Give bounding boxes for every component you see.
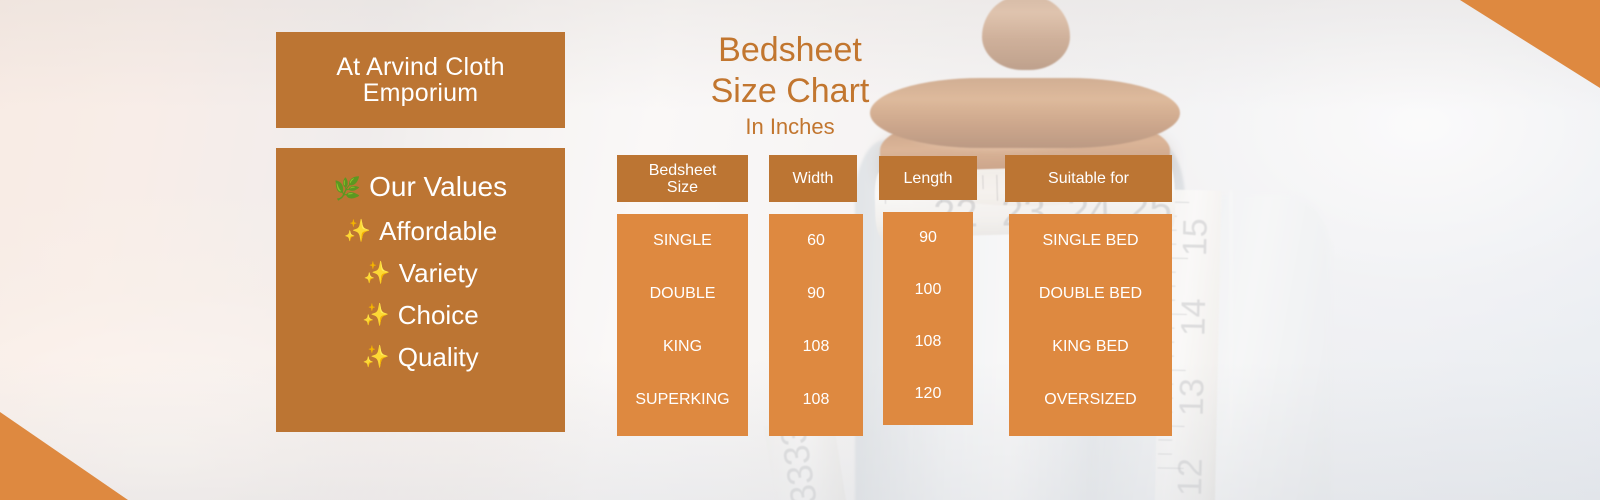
value-item-label: Choice	[398, 298, 479, 332]
value-item-affordable: ✨ Affordable	[344, 214, 497, 248]
table-cell: 108	[769, 373, 863, 426]
table-cell: KING BED	[1009, 320, 1172, 373]
value-item-label: Quality	[398, 340, 479, 374]
table-cell: OVERSIZED	[1009, 373, 1172, 426]
table-cell: DOUBLE	[617, 267, 748, 320]
chart-title-line1: Bedsheet	[640, 30, 940, 71]
seedling-icon: 🌿	[334, 176, 361, 201]
table-cell: DOUBLE BED	[1009, 267, 1172, 320]
brand-name-line1: At Arvind Cloth	[336, 53, 504, 81]
values-panel: 🌿 Our Values ✨ Affordable ✨ Variety ✨ Ch…	[276, 148, 565, 432]
brand-name-line2: Emporium	[363, 79, 479, 107]
column-body-bedsheet-size: SINGLE DOUBLE KING SUPERKING	[617, 214, 748, 436]
column-header-line1: Bedsheet	[649, 162, 717, 179]
column-header-width: Width	[769, 155, 857, 202]
poster-canvas: 15 14 13 12	[0, 0, 1600, 500]
table-cell: 90	[883, 212, 973, 264]
column-header-label: Length	[904, 170, 953, 187]
column-body-width: 60 90 108 108	[769, 214, 863, 436]
value-item-label: Variety	[399, 256, 478, 290]
sparkles-icon: ✨	[362, 340, 389, 374]
value-item-quality: ✨ Quality	[362, 340, 478, 374]
column-header-length: Length	[879, 156, 977, 200]
table-cell: 108	[883, 316, 973, 368]
value-item-variety: ✨ Variety	[363, 256, 477, 290]
table-cell: KING	[617, 320, 748, 373]
chart-heading: Bedsheet Size Chart In Inches	[640, 30, 940, 142]
chart-subtitle: In Inches	[640, 112, 940, 142]
table-cell: 90	[769, 267, 863, 320]
value-item-choice: ✨ Choice	[362, 298, 478, 332]
brand-panel: At Arvind Cloth Emporium	[276, 32, 565, 128]
table-cell: 100	[883, 264, 973, 316]
sparkles-icon: ✨	[362, 298, 389, 332]
brand-name: At Arvind Cloth Emporium	[336, 54, 504, 106]
column-header-line2: Size	[667, 179, 698, 196]
table-cell: 60	[769, 214, 863, 267]
column-header-label: Suitable for	[1048, 170, 1129, 187]
table-cell: SINGLE	[617, 214, 748, 267]
column-header-label: Width	[793, 170, 834, 187]
column-body-length: 90 100 108 120	[883, 212, 973, 425]
column-header-suitable-for: Suitable for	[1005, 155, 1172, 202]
column-body-suitable-for: SINGLE BED DOUBLE BED KING BED OVERSIZED	[1009, 214, 1172, 436]
poster-content: At Arvind Cloth Emporium 🌿 Our Values ✨ …	[0, 0, 1600, 500]
values-heading: 🌿 Our Values	[334, 170, 507, 206]
table-cell: SINGLE BED	[1009, 214, 1172, 267]
table-cell: SUPERKING	[617, 373, 748, 426]
chart-title-line2: Size Chart	[640, 71, 940, 112]
sparkles-icon: ✨	[344, 214, 371, 248]
value-item-label: Affordable	[379, 214, 497, 248]
column-header-bedsheet-size: Bedsheet Size	[617, 155, 748, 202]
table-cell: 120	[883, 368, 973, 420]
table-cell: 108	[769, 320, 863, 373]
sparkles-icon: ✨	[363, 256, 390, 290]
values-heading-label: Our Values	[369, 171, 507, 202]
